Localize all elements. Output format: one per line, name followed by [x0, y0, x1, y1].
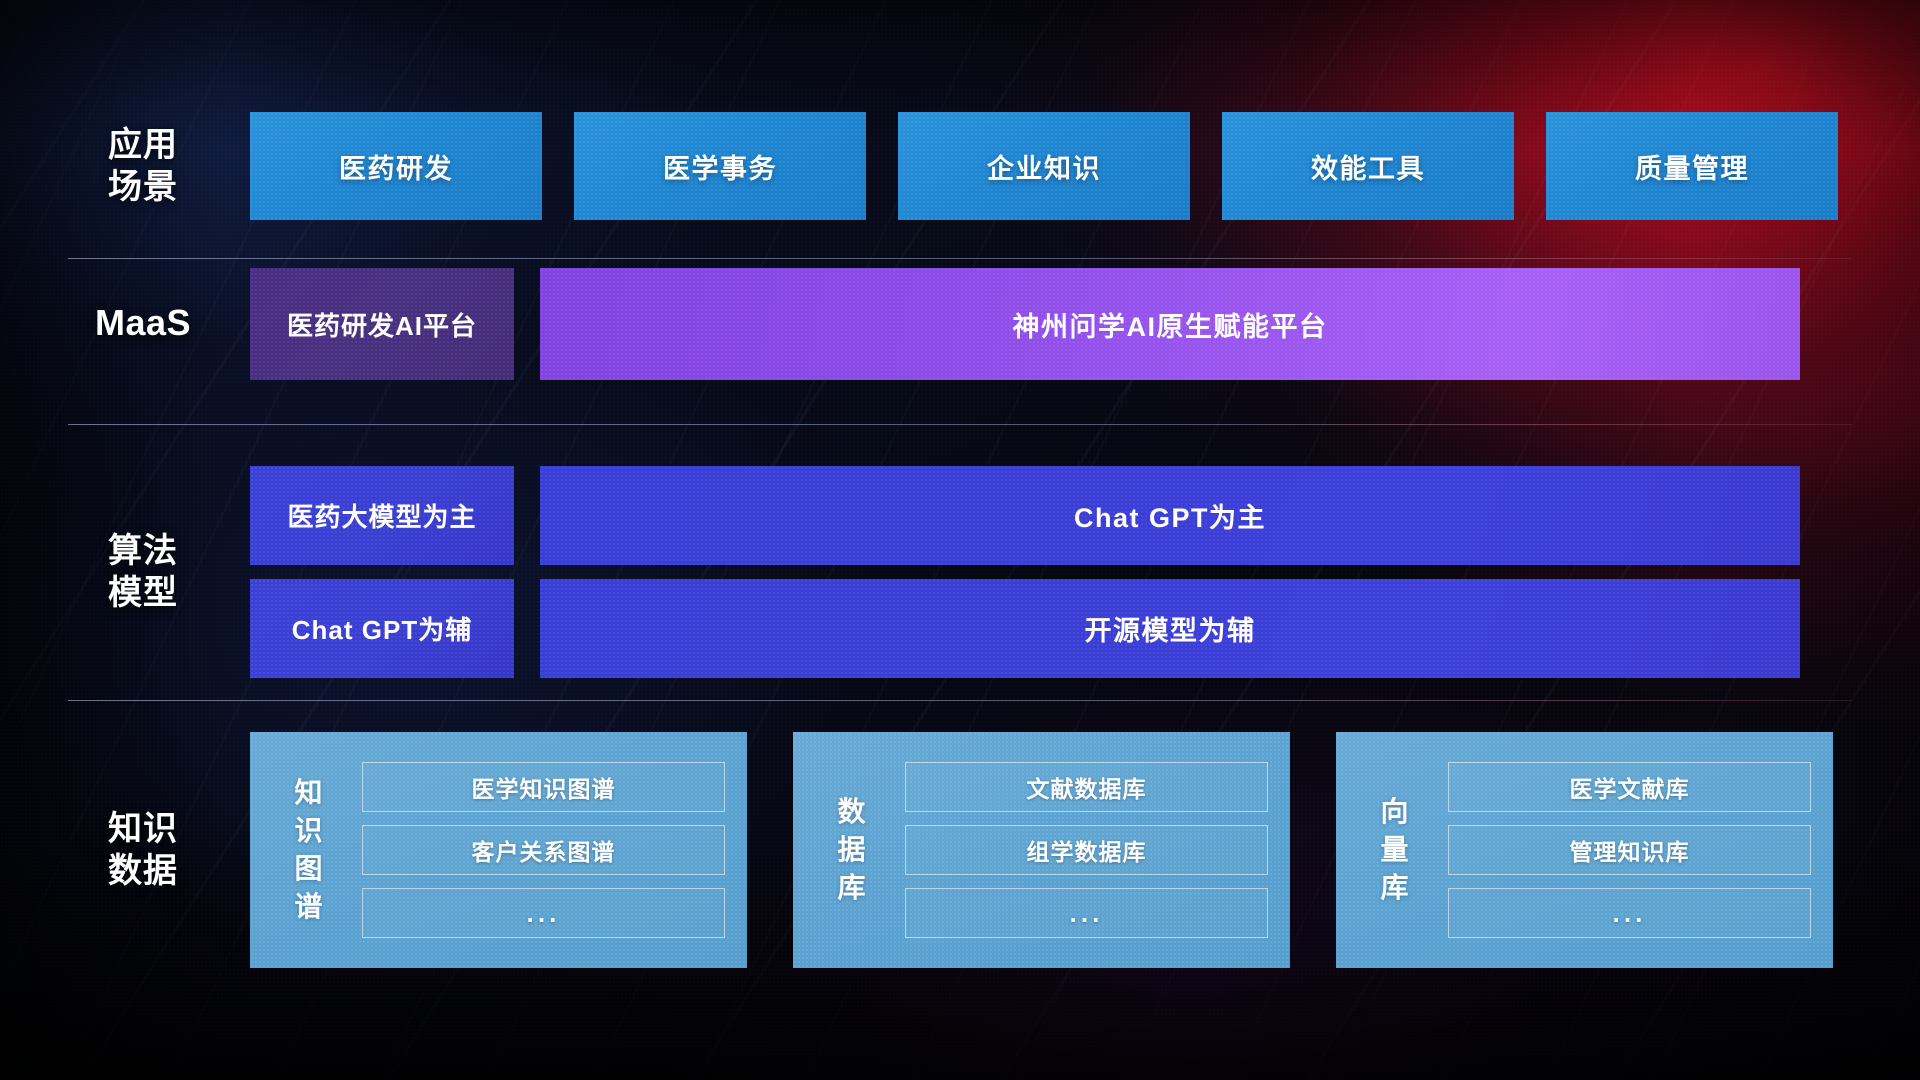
divider-algorithm-knowledge — [68, 700, 1852, 701]
divider-maas-algorithm — [68, 424, 1852, 425]
row-label-maas: MaaS — [68, 302, 218, 344]
knowledge-panel-title-char: 知 — [266, 774, 352, 812]
algorithm-card-opensource-secondary[interactable]: 开源模型为辅 — [540, 579, 1800, 678]
row-applications: 应用 场景 医药研发 医学事务 企业知识 效能工具 质量管理 — [68, 112, 1852, 220]
architecture-diagram: 应用 场景 医药研发 医学事务 企业知识 效能工具 质量管理 MaaS 医药研发… — [0, 0, 1920, 1080]
row-label-algorithm-line2: 模型 — [68, 572, 218, 614]
knowledge-panel-title-char: 图 — [266, 850, 352, 888]
row-label-knowledge: 知识 数据 — [68, 808, 218, 892]
knowledge-panel-title-char: 库 — [1352, 869, 1438, 907]
knowledge-panel-title-char: 识 — [266, 812, 352, 850]
row-label-knowledge-line2: 数据 — [68, 850, 218, 892]
divider-applications-maas — [68, 258, 1852, 259]
knowledge-panel-title-char: 据 — [809, 831, 895, 869]
knowledge-item-more-database[interactable]: ... — [905, 888, 1268, 938]
knowledge-item-medical-literature-store[interactable]: 医学文献库 — [1448, 762, 1811, 812]
row-label-algorithm: 算法 模型 — [68, 530, 218, 614]
application-card-enterprise-knowledge[interactable]: 企业知识 — [898, 112, 1190, 220]
knowledge-item-more-knowledge-graph[interactable]: ... — [362, 888, 725, 938]
knowledge-item-management-knowledge-store[interactable]: 管理知识库 — [1448, 825, 1811, 875]
knowledge-panel-track: 知识图谱 医学知识图谱 客户关系图谱 ... 数据库 文献数据库 组学数据库 .… — [250, 732, 1833, 968]
row-maas: MaaS 医药研发AI平台 神州问学AI原生赋能平台 — [68, 268, 1852, 380]
application-card-efficiency-tools[interactable]: 效能工具 — [1222, 112, 1514, 220]
knowledge-panel-vector-store[interactable]: 向量库 医学文献库 管理知识库 ... — [1336, 732, 1833, 968]
knowledge-panel-title-database: 数据库 — [793, 793, 895, 907]
application-card-medical-affairs[interactable]: 医学事务 — [574, 112, 866, 220]
row-label-applications-line1: 应用 — [68, 124, 218, 166]
row-knowledge-data: 知识 数据 知识图谱 医学知识图谱 客户关系图谱 ... 数据库 文献数据库 — [68, 732, 1852, 968]
knowledge-panel-title-char: 量 — [1352, 831, 1438, 869]
algorithm-line-primary: 医药大模型为主 Chat GPT为主 — [250, 466, 1800, 565]
row-label-applications-line2: 场景 — [68, 166, 218, 208]
application-card-track: 医药研发 医学事务 企业知识 效能工具 质量管理 — [250, 112, 1838, 220]
knowledge-item-list-database: 文献数据库 组学数据库 ... — [895, 762, 1290, 938]
algorithm-grid: 医药大模型为主 Chat GPT为主 Chat GPT为辅 开源模型为辅 — [250, 466, 1800, 678]
row-algorithm-models: 算法 模型 医药大模型为主 Chat GPT为主 Chat GPT为辅 开源模型… — [68, 466, 1852, 678]
application-card-medicine-rd[interactable]: 医药研发 — [250, 112, 542, 220]
knowledge-item-list-knowledge-graph: 医学知识图谱 客户关系图谱 ... — [352, 762, 747, 938]
knowledge-item-medical-knowledge-graph[interactable]: 医学知识图谱 — [362, 762, 725, 812]
knowledge-item-customer-relation-graph[interactable]: 客户关系图谱 — [362, 825, 725, 875]
slide-canvas: 应用 场景 医药研发 医学事务 企业知识 效能工具 质量管理 MaaS 医药研发… — [0, 0, 1920, 1080]
knowledge-panel-title-char: 谱 — [266, 888, 352, 926]
knowledge-panel-title-knowledge-graph: 知识图谱 — [250, 774, 352, 926]
knowledge-panel-title-vector-store: 向量库 — [1336, 793, 1438, 907]
knowledge-item-more-vector-store[interactable]: ... — [1448, 888, 1811, 938]
application-card-quality-management[interactable]: 质量管理 — [1546, 112, 1838, 220]
knowledge-item-omics-database[interactable]: 组学数据库 — [905, 825, 1268, 875]
algorithm-card-medicine-llm-primary[interactable]: 医药大模型为主 — [250, 466, 514, 565]
knowledge-panel-knowledge-graph[interactable]: 知识图谱 医学知识图谱 客户关系图谱 ... — [250, 732, 747, 968]
row-label-applications: 应用 场景 — [68, 124, 218, 208]
knowledge-panel-title-char: 库 — [809, 869, 895, 907]
algorithm-line-secondary: Chat GPT为辅 开源模型为辅 — [250, 579, 1800, 678]
knowledge-item-list-vector-store: 医学文献库 管理知识库 ... — [1438, 762, 1833, 938]
row-label-algorithm-line1: 算法 — [68, 530, 218, 572]
knowledge-item-literature-database[interactable]: 文献数据库 — [905, 762, 1268, 812]
row-label-knowledge-line1: 知识 — [68, 808, 218, 850]
algorithm-card-chatgpt-primary[interactable]: Chat GPT为主 — [540, 466, 1800, 565]
knowledge-panel-database[interactable]: 数据库 文献数据库 组学数据库 ... — [793, 732, 1290, 968]
maas-card-medicine-ai-platform[interactable]: 医药研发AI平台 — [250, 268, 514, 380]
maas-card-shenzhou-wenxue-platform[interactable]: 神州问学AI原生赋能平台 — [540, 268, 1800, 380]
algorithm-card-chatgpt-secondary[interactable]: Chat GPT为辅 — [250, 579, 514, 678]
knowledge-panel-title-char: 向 — [1352, 793, 1438, 831]
knowledge-panel-title-char: 数 — [809, 793, 895, 831]
maas-track: 医药研发AI平台 神州问学AI原生赋能平台 — [250, 268, 1800, 380]
